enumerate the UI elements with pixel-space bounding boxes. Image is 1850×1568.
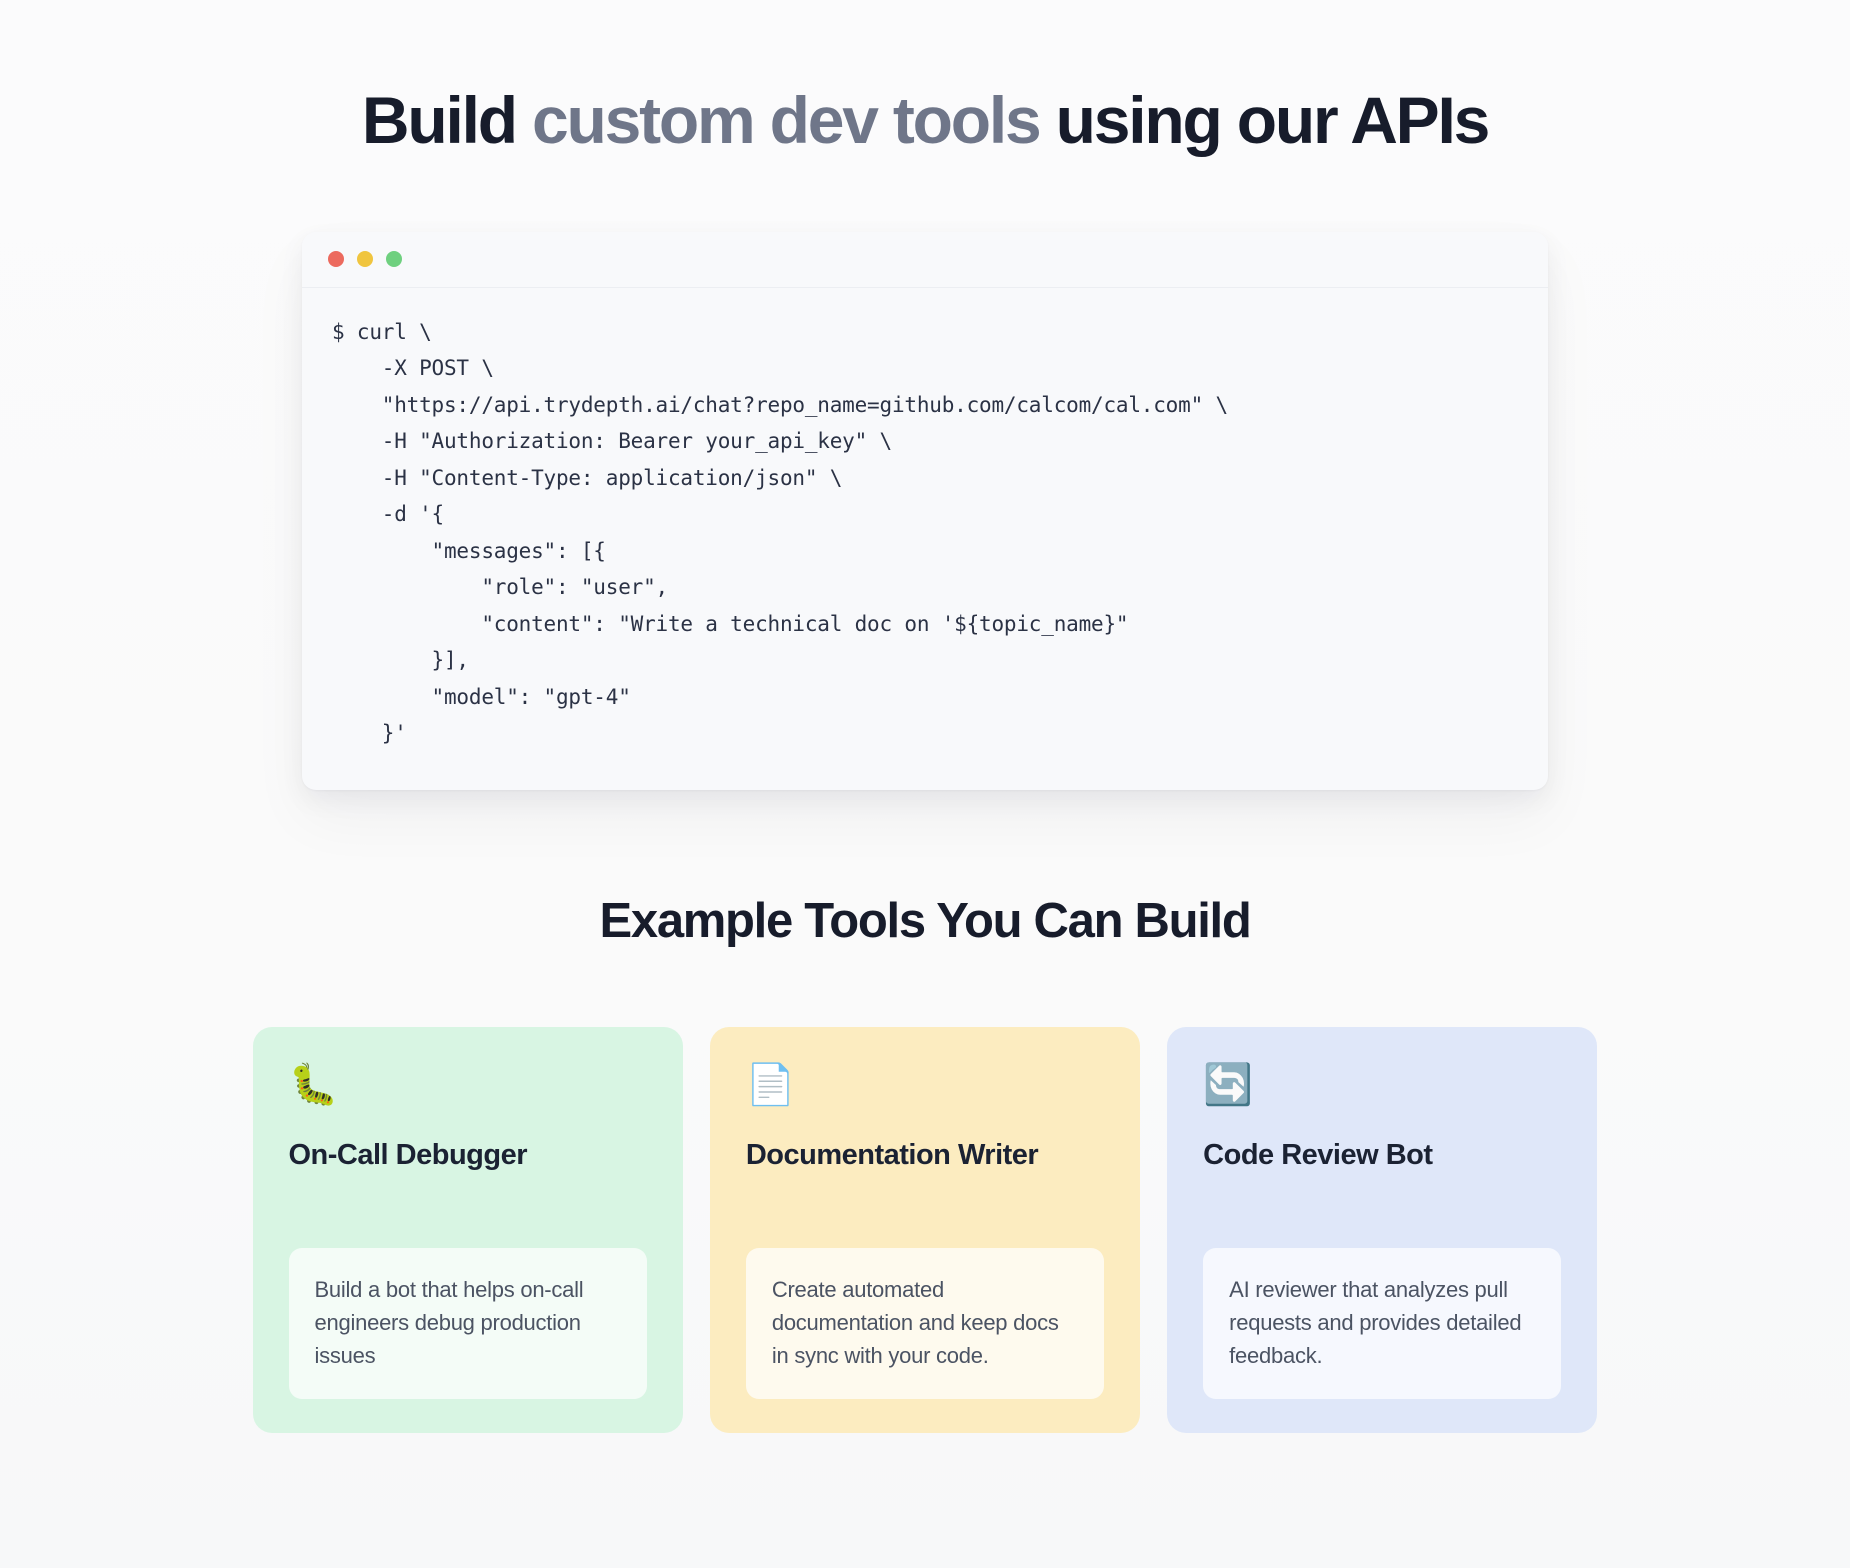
card-description-box-code-review-bot: AI reviewer that analyzes pull requests …	[1203, 1248, 1561, 1399]
hero-section: Build custom dev tools using our APIs	[0, 0, 1850, 155]
example-tool-card-code-review-bot[interactable]: 🔄 Code Review Bot AI reviewer that analy…	[1167, 1027, 1597, 1433]
card-description-code-review-bot: AI reviewer that analyzes pull requests …	[1229, 1273, 1535, 1372]
close-window-dot-icon[interactable]	[328, 251, 344, 267]
maximize-window-dot-icon[interactable]	[386, 251, 402, 267]
card-title-on-call-debugger: On-Call Debugger	[289, 1139, 647, 1172]
landing-page: Build custom dev tools using our APIs $ …	[0, 0, 1850, 1568]
page-title-part-2: using our APIs	[1040, 83, 1489, 157]
code-window-titlebar	[302, 232, 1548, 288]
card-description-box-on-call-debugger: Build a bot that helps on-call engineers…	[289, 1248, 647, 1399]
example-tool-card-on-call-debugger[interactable]: 🐛 On-Call Debugger Build a bot that help…	[253, 1027, 683, 1433]
card-description-box-documentation-writer: Create automated documentation and keep …	[746, 1248, 1104, 1399]
card-title-code-review-bot: Code Review Bot	[1203, 1139, 1561, 1172]
page-title: Build custom dev tools using our APIs	[0, 86, 1850, 155]
page-title-accent: custom dev tools	[532, 83, 1040, 157]
page-document-icon: 📄	[746, 1065, 1104, 1111]
minimize-window-dot-icon[interactable]	[357, 251, 373, 267]
page-title-part-1: Build	[362, 83, 532, 157]
code-window: $ curl \ -X POST \ "https://api.trydepth…	[302, 232, 1548, 790]
card-description-documentation-writer: Create automated documentation and keep …	[772, 1273, 1078, 1372]
examples-section-title: Example Tools You Can Build	[0, 893, 1850, 949]
example-tool-card-documentation-writer[interactable]: 📄 Documentation Writer Create automated …	[710, 1027, 1140, 1433]
card-description-on-call-debugger: Build a bot that helps on-call engineers…	[315, 1273, 621, 1372]
example-tools-card-list: 🐛 On-Call Debugger Build a bot that help…	[253, 1027, 1598, 1433]
bug-icon: 🐛	[289, 1065, 647, 1111]
refresh-arrows-icon: 🔄	[1203, 1065, 1561, 1111]
code-window-body: $ curl \ -X POST \ "https://api.trydepth…	[302, 288, 1548, 790]
curl-code-snippet[interactable]: $ curl \ -X POST \ "https://api.trydepth…	[332, 314, 1518, 752]
card-title-documentation-writer: Documentation Writer	[746, 1139, 1104, 1172]
